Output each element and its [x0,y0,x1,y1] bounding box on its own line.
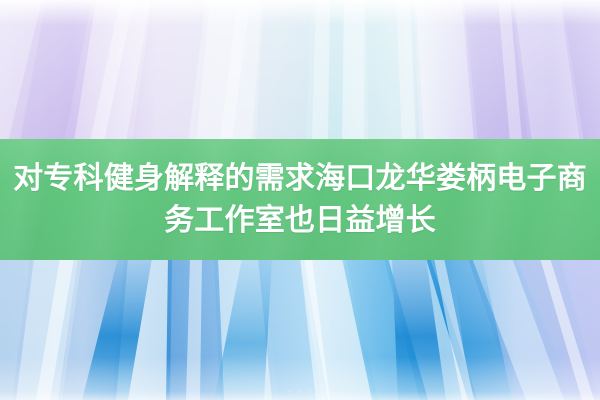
headline-banner-band: 对专科健身解释的需求海口龙华娄柄电子商务工作室也日益增长 [0,139,600,260]
image-canvas: 对专科健身解释的需求海口龙华娄柄电子商务工作室也日益增长 · · · [0,0,600,400]
headline-text: 对专科健身解释的需求海口龙华娄柄电子商务工作室也日益增长 [0,158,600,242]
bottom-watermark: · · · [0,385,600,398]
